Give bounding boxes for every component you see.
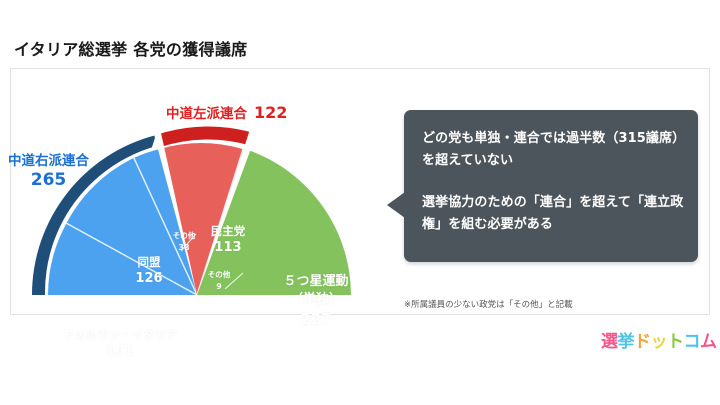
logo-char-2: ド (634, 327, 651, 352)
logo-char-4: ト (667, 327, 684, 352)
slice-label-lega-seats: 126 (106, 271, 192, 286)
slice-label-forza-seats: 101 (51, 344, 189, 359)
slice-label-m5s-name: ５つ星運動 (283, 274, 348, 289)
logo-char-6: ム (700, 327, 717, 352)
coalition-center-left-name: 中道左派連合 (166, 102, 247, 122)
logo-char-1: 挙 (618, 327, 635, 352)
slice-label-other-right-name: その他 (173, 231, 196, 240)
callout-paragraph-1: どの党も単独・連合では過半数（315議席）を超えていない (422, 128, 684, 173)
coalition-center-left-seats: 122 (254, 103, 287, 122)
slice-label-m5s: ５つ星運動 （単独） 227 (257, 273, 375, 329)
slice-label-lega-name: 同盟 (138, 255, 161, 269)
slice-label-forza-name: フォルツァ・イタリア (63, 328, 178, 342)
annotation-callout-box: どの党も単独・連合では過半数（315議席）を超えていない 選挙協力のための「連合… (404, 110, 698, 262)
coalition-center-right-name: 中道右派連合 (8, 149, 89, 169)
callout-paragraph-2: 選挙協力のための「連合」を超えて「連立政権」を組む必要がある (422, 192, 684, 237)
logo-char-5: コ (684, 327, 701, 352)
coalition-label-center-right: 中道右派連合 265 (8, 149, 89, 190)
logo-char-0: 選 (601, 327, 618, 352)
slice-label-forza: フォルツァ・イタリア 101 (51, 329, 189, 359)
slice-label-other-left-seats: 9 (199, 281, 239, 292)
page-title: イタリア総選挙 各党の獲得議席 (14, 36, 247, 60)
logo-char-3: ッ (651, 327, 668, 352)
slice-label-other-left: その他 9 (199, 270, 239, 292)
slice-label-m5s-note: （単独） (257, 291, 375, 309)
coalition-center-right-seats: 265 (31, 170, 67, 190)
slice-label-m5s-seats: 227 (257, 309, 375, 329)
callout-pointer-arrow (387, 192, 405, 218)
slice-label-pd-seats: 113 (199, 240, 257, 255)
footnote-text: ※所属議員の少ない政党は「その他」と記載 (404, 298, 573, 310)
infographic-root: イタリア総選挙 各党の獲得議席 (0, 0, 720, 405)
senkyo-dotcom-logo[interactable]: 選挙ドットコム (601, 327, 717, 352)
slice-label-lega: 同盟 126 (106, 256, 192, 286)
slice-label-pd-name: 民主党 (211, 224, 246, 238)
slice-label-pd: 民主党 113 (199, 225, 257, 255)
slice-label-other-left-name: その他 (208, 270, 231, 279)
coalition-label-center-left: 中道左派連合 122 (166, 102, 287, 122)
